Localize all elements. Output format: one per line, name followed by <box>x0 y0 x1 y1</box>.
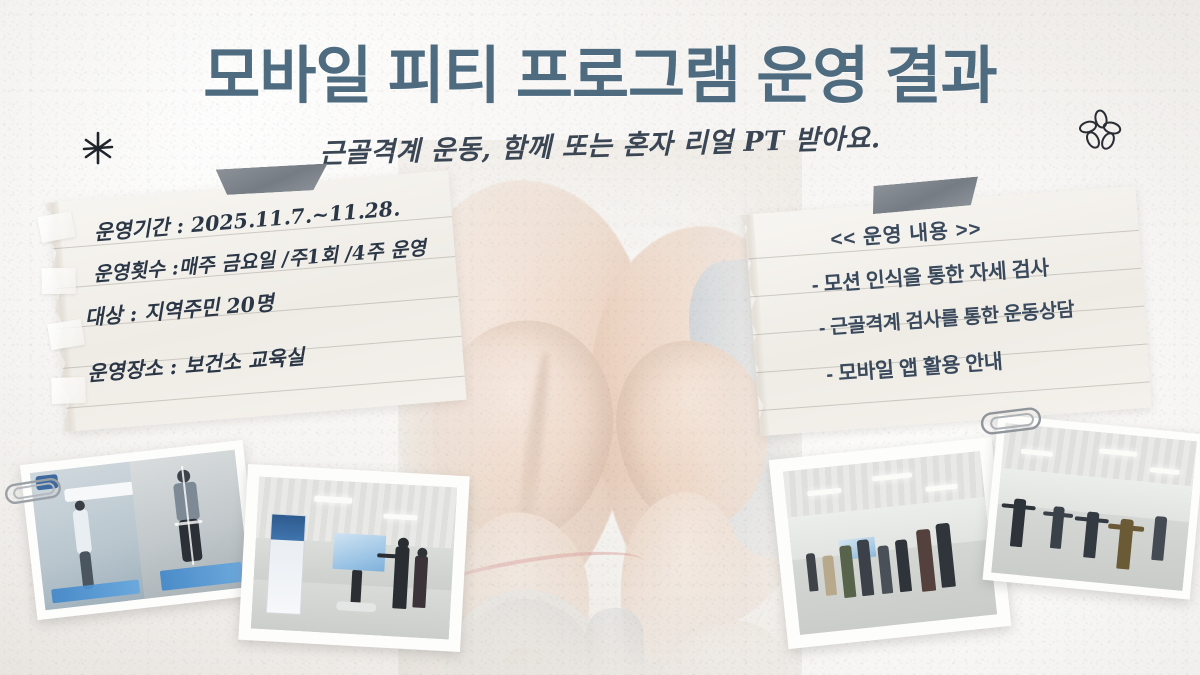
info-line-venue: 운영장소 : 보건소 교육실 <box>86 347 305 385</box>
page-title: 모바일 피티 프로그램 운영 결과 <box>0 44 1200 110</box>
info-line-period: 운영기간 : 2025.11.7.~11.28. <box>93 198 401 243</box>
content-item-app: - 모바일 앱 활용 안내 <box>826 352 1004 385</box>
photo-group-stretch-a <box>769 437 1012 649</box>
photo-app-screen <box>20 440 260 620</box>
app-camera-panel <box>130 450 250 599</box>
participant-figure <box>1151 516 1167 561</box>
camera-exercise-mat <box>160 562 244 591</box>
info-card-tape-square <box>51 377 86 404</box>
app-split-scene <box>30 450 250 610</box>
info-card-tape-square <box>37 211 75 243</box>
participant-figure <box>822 555 837 596</box>
participant-figure <box>806 553 819 592</box>
roll-up-banner <box>266 513 307 615</box>
group-stretch-scene-b <box>991 423 1196 591</box>
group-stretch-scene-a <box>783 451 997 635</box>
kiosk-hall-scene <box>251 477 457 640</box>
participant-figure <box>877 545 893 594</box>
photo-kiosk-hall-image <box>251 477 457 640</box>
content-item-consult: - 근골격계 검사를 통한 운동상담 <box>818 301 1075 339</box>
info-card-tape-square <box>42 268 76 294</box>
poster-canvas: 모바일 피티 프로그램 운영 결과 근골격계 운동, 함께 또는 혼자 리얼 P… <box>0 0 1200 675</box>
banner-header <box>271 514 305 541</box>
photo-group-stretch-b <box>983 414 1200 599</box>
info-line-sessions: 운영횟수 :매주 금요일 /주1회 /4주 운영 <box>93 238 427 284</box>
photo-kiosk-hall <box>238 464 469 652</box>
app-exercise-mat <box>51 579 140 603</box>
kiosk-display <box>332 533 386 572</box>
content-card: << 운영 내용 >> - 모션 인식을 통한 자세 검사 - 근골격계 검사를… <box>744 186 1151 436</box>
photo-group-stretch-a-image <box>783 451 997 635</box>
photo-app-screen-image <box>30 450 250 610</box>
kiosk-stand <box>350 570 362 605</box>
asterisk-icon <box>78 128 118 168</box>
info-card: 운영기간 : 2025.11.7.~11.28. 운영횟수 :매주 금요일 /주… <box>49 170 466 431</box>
app-avatar-body <box>72 509 92 554</box>
app-status-pill <box>64 481 139 502</box>
content-item-posture: - 모션 인식을 통한 자세 검사 <box>811 259 1050 297</box>
info-line-target: 대상 : 지역주민 20명 <box>84 293 275 329</box>
photo-group-stretch-b-image <box>991 423 1196 591</box>
info-card-tape-square <box>47 319 85 350</box>
flower-icon <box>1078 108 1124 154</box>
